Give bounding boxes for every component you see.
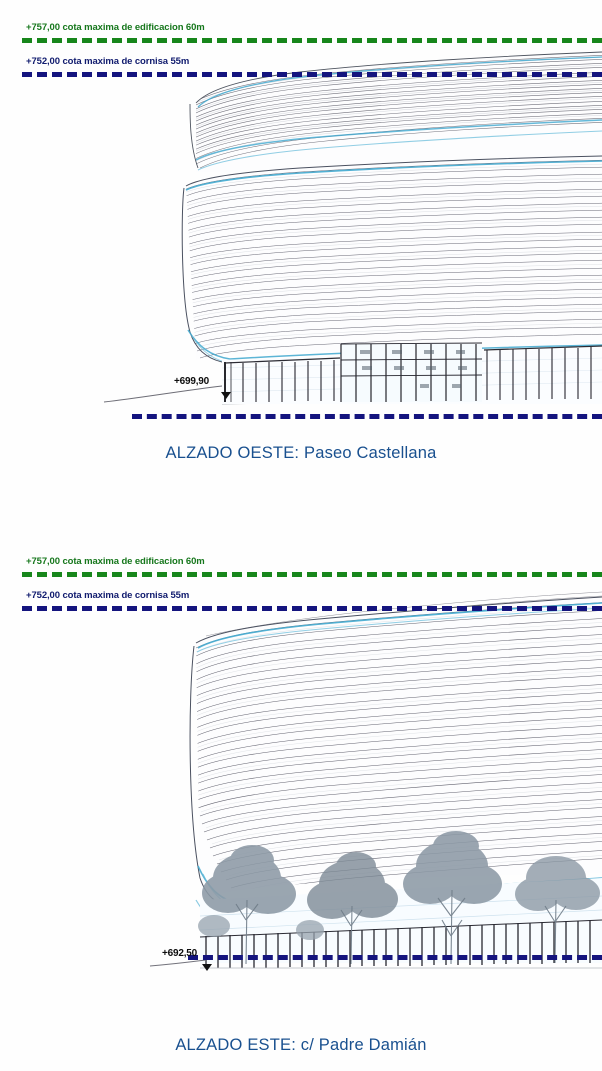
spot-level-marker-east <box>202 964 212 971</box>
elevation-west: +757,00 cota maxima de edificacion 60m +… <box>0 0 602 480</box>
spot-level-west: +699,90 <box>174 376 209 387</box>
spot-level-east: +692,50 <box>162 948 197 959</box>
building-drawing-east <box>0 548 602 1038</box>
caption-elevation-west: ALZADO OESTE: Paseo Castellana <box>0 444 602 463</box>
building-drawing-west <box>0 0 602 440</box>
elevation-east: +757,00 cota maxima de edificacion 60m +… <box>0 548 602 1071</box>
spot-level-marker-west <box>221 392 231 399</box>
drawing-sheet: +757,00 cota maxima de edificacion 60m +… <box>0 0 602 1071</box>
caption-elevation-east: ALZADO ESTE: c/ Padre Damián <box>0 1036 602 1055</box>
